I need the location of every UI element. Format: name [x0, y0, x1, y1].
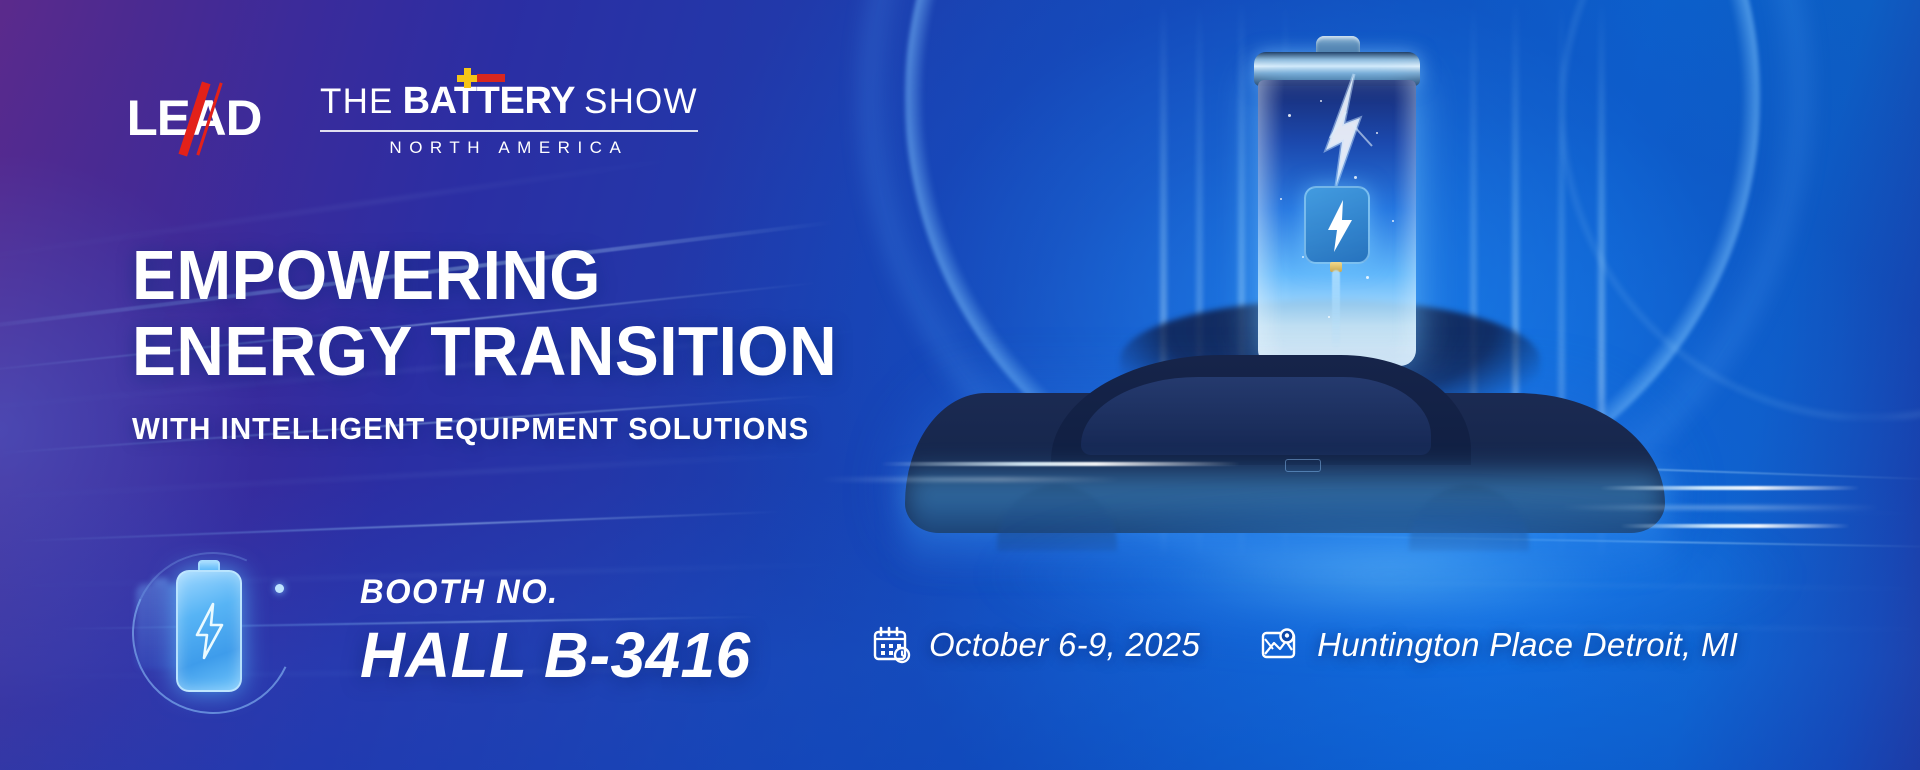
halo-arc-main [905, 0, 1760, 525]
event-location-text: Huntington Place Detroit, MI [1317, 626, 1738, 664]
booth-label: BOOTH NO. [360, 573, 747, 612]
battery-body [1258, 80, 1416, 366]
headline-block: EMPOWERING ENERGY TRANSITION WITH INTELL… [132, 238, 882, 447]
car-silhouette [905, 355, 1665, 575]
logo-word-show: SHOW [584, 82, 698, 122]
lead-logo: LEAD [128, 87, 264, 149]
charging-plug-icon [1304, 186, 1370, 264]
plus-symbol-icon [457, 68, 477, 88]
bolt-glyph-icon [1326, 200, 1354, 252]
logo-word-battery: BATTERY [403, 80, 575, 123]
battery-cap [1254, 52, 1420, 86]
calendar-clock-icon [872, 625, 912, 665]
map-location-icon [1260, 625, 1300, 665]
battery-show-logo: THE BATTERY SHOW NORTH AMERICA [320, 78, 698, 158]
halo-arc-right [1560, 0, 1920, 420]
battery-bolt-icon [192, 602, 226, 660]
header-logos: LEAD THE BATTERY SHOW NORTH AMERICA [128, 78, 698, 158]
halo-outer-glow [860, 0, 1810, 570]
logo-region-label: NORTH AMERICA [320, 138, 698, 158]
event-date-text: October 6-9, 2025 [929, 626, 1200, 664]
headline-subtitle: WITH INTELLIGENT EQUIPMENT SOLUTIONS [132, 411, 845, 447]
event-banner: LEAD THE BATTERY SHOW NORTH AMERICA EMPO… [0, 0, 1920, 770]
event-date-item: October 6-9, 2025 [872, 625, 1200, 665]
booth-number: HALL B-3416 [360, 618, 751, 692]
battery-cylinder [1254, 36, 1420, 366]
light-pillars [1150, 0, 1620, 560]
logo-word-battery-text: BATTERY [403, 80, 575, 122]
booth-block: BOOTH NO. HALL B-3416 [130, 540, 763, 725]
headline-line-2: ENERGY TRANSITION [132, 314, 837, 390]
event-info-row: October 6-9, 2025 Huntington Place Detro… [872, 625, 1738, 665]
plug-cord [1332, 270, 1340, 348]
logo-word-the: THE [320, 82, 394, 122]
battery-terminal [1316, 36, 1360, 56]
plug-pin [1330, 262, 1342, 272]
event-location-item: Huntington Place Detroit, MI [1260, 625, 1738, 665]
battery-badge-icon [130, 540, 300, 725]
headline-line-1: EMPOWERING [132, 238, 837, 314]
podium-base [1120, 300, 1540, 420]
minus-symbol-icon [477, 74, 505, 82]
lightning-strike-icon [1296, 72, 1392, 222]
logo-divider [320, 130, 698, 132]
